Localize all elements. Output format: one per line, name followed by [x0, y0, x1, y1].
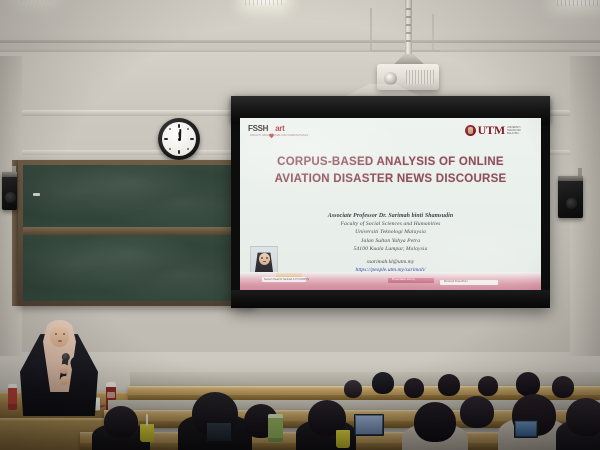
slide-title: CORPUS-BASED ANALYSIS OF ONLINE AVIATION… [240, 154, 541, 188]
projector-lens-icon [384, 72, 397, 85]
slide-email: ssarimah.kl@utm.my [240, 258, 541, 266]
wall-speaker-right [558, 176, 583, 218]
slide-affiliation-2: Universiti Teknologi Malaysia [240, 228, 541, 236]
ceiling-light-3 [20, 0, 54, 2]
utm-logo-tagline: UNIVERSITI TEKNOLOGI MALAYSIA [507, 126, 533, 136]
laptop [354, 414, 384, 436]
projector-vent [406, 70, 434, 84]
utm-logo: UTM UNIVERSITI TEKNOLOGI MALAYSIA [465, 123, 533, 138]
clock-center-pin [178, 138, 181, 141]
presentation-slide: FSSH art FAKULTI SAINS SOSIAL DAN KEMANU… [240, 118, 541, 290]
slide-affiliation-4: 54100 Kuala Lumpur, Malaysia [240, 245, 541, 253]
ceiling-rail-vertical-2 [432, 14, 434, 52]
utm-wordmark: UTM [478, 123, 505, 138]
footer-strip-text: Section Head Dr Sarimah 3.07 CORPUS [264, 278, 309, 281]
wall-speaker-left [2, 172, 17, 210]
slide-footer-band: Section Head Dr Sarimah 3.07 CORPUS Pres… [240, 272, 541, 290]
slide-author-block: Associate Professor Dr. Sarimah binti Sh… [240, 212, 541, 253]
slide-author-name: Associate Professor Dr. Sarimah binti Sh… [240, 212, 541, 220]
fssh-logo-tagline: FAKULTI SAINS SOSIAL DAN KEMANUSIAAN [250, 134, 308, 137]
slide-title-line-1: CORPUS-BASED ANALYSIS OF ONLINE [240, 154, 541, 171]
green-bottle [268, 414, 283, 442]
tablet [206, 422, 232, 442]
presenter-speaking [14, 306, 106, 416]
fssh-logo: FSSH art FAKULTI SAINS SOSIAL DAN KEMANU… [248, 124, 284, 133]
presenter-face [50, 326, 69, 347]
slide-affiliation-1: Faculty of Social Sciences and Humanitie… [240, 220, 541, 228]
red-bottle [8, 384, 17, 410]
clock-face [162, 122, 196, 156]
presenter-hand-upper [59, 364, 69, 374]
yellow-cup-2 [336, 430, 350, 448]
utm-crest-icon [465, 125, 476, 136]
presenter-hand-lower [60, 376, 69, 385]
ceiling-projector [377, 64, 439, 90]
fssh-logo-accent: art [275, 124, 284, 133]
slide-affiliation-3: Jalan Sultan Yahya Petra [240, 237, 541, 245]
ceiling-light-2 [556, 0, 600, 7]
lecture-hall-scene: FSSH art FAKULTI SAINS SOSIAL DAN KEMANU… [0, 0, 600, 450]
phone-screen [514, 420, 538, 438]
ceiling-rail-vertical [370, 8, 372, 52]
cup-straw [146, 414, 148, 426]
yellow-cup [140, 424, 154, 442]
chalkboard-panel-lower [23, 235, 251, 301]
projection-screen-bottom-bar [231, 290, 550, 308]
slide-title-line-2: AVIATION DISASTER NEWS DISCOURSE [240, 171, 541, 188]
heart-icon [268, 126, 275, 133]
chalk-piece [33, 193, 40, 196]
chalkboard-chalk-rail [23, 227, 251, 235]
green-chalkboard [18, 160, 256, 306]
chalkboard-surface [23, 165, 251, 301]
projection-screen-surface: FSSH art FAKULTI SAINS SOSIAL DAN KEMANU… [240, 118, 541, 290]
ceiling-seam [0, 40, 600, 43]
chalkboard-panel-upper [23, 165, 251, 227]
portrait-face [259, 253, 270, 265]
footer-white-chip-text: Microsoft PowerPoint [444, 280, 468, 283]
fssh-logo-text: FSSH [248, 124, 268, 133]
projector-pole [405, 0, 412, 56]
footer-tag-text: Presentation utm.my [392, 278, 415, 281]
wall-clock [158, 118, 200, 160]
ceiling-light-1 [244, 0, 286, 6]
